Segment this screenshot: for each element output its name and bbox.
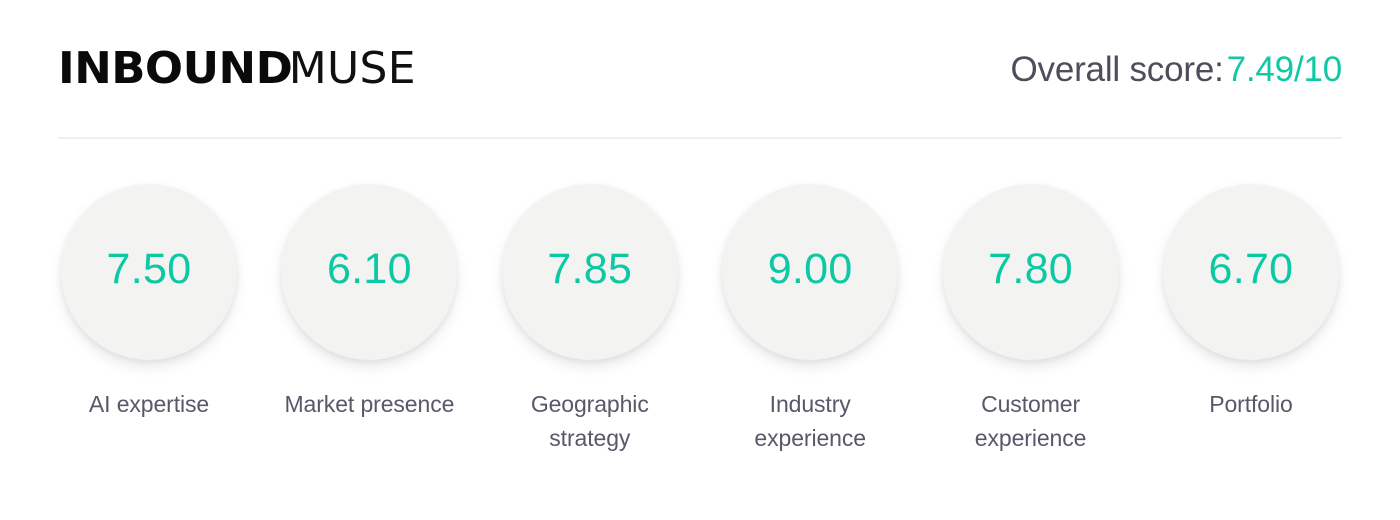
metric-value: 6.10 bbox=[327, 248, 412, 291]
metric-bubble: 7.50 bbox=[61, 184, 237, 360]
metric-item: 7.85 Geographic strategy bbox=[499, 184, 681, 455]
metric-bubble: 6.70 bbox=[1163, 184, 1339, 360]
metric-label: Portfolio bbox=[1209, 387, 1292, 421]
metric-bubble: 7.85 bbox=[502, 184, 678, 360]
brand-logo-bold-text: INBOUND bbox=[58, 47, 292, 91]
brand-logo: INBOUNDMUSE bbox=[58, 47, 416, 91]
metric-item: 7.80 Customer experience bbox=[940, 184, 1122, 455]
metric-value: 9.00 bbox=[768, 248, 853, 291]
scorecard-panel: INBOUNDMUSE Overall score:7.49/10 7.50 A… bbox=[0, 0, 1400, 520]
metric-value: 7.50 bbox=[107, 248, 192, 291]
metric-bubble: 9.00 bbox=[722, 184, 898, 360]
header-divider bbox=[58, 137, 1342, 139]
metric-item: 6.10 Market presence bbox=[278, 184, 460, 455]
metric-value: 7.85 bbox=[547, 248, 632, 291]
overall-score-label: Overall score: bbox=[1011, 50, 1224, 89]
metric-bubble: 6.10 bbox=[281, 184, 457, 360]
metric-label: Industry experience bbox=[722, 387, 898, 455]
overall-score: Overall score:7.49/10 bbox=[1011, 52, 1342, 87]
metric-label: Market presence bbox=[284, 387, 454, 421]
metric-item: 6.70 Portfolio bbox=[1160, 184, 1342, 455]
metric-value: 6.70 bbox=[1209, 248, 1294, 291]
overall-score-value: 7.49/10 bbox=[1227, 50, 1342, 89]
metric-label: Geographic strategy bbox=[502, 387, 678, 455]
brand-logo-light-text: MUSE bbox=[289, 47, 416, 91]
metric-value: 7.80 bbox=[988, 248, 1073, 291]
metric-label: AI expertise bbox=[89, 387, 209, 421]
metric-item: 9.00 Industry experience bbox=[719, 184, 901, 455]
metric-bubble: 7.80 bbox=[943, 184, 1119, 360]
metric-bubbles-row: 7.50 AI expertise 6.10 Market presence 7… bbox=[58, 184, 1342, 455]
metric-label: Customer experience bbox=[943, 387, 1119, 455]
metric-item: 7.50 AI expertise bbox=[58, 184, 240, 455]
header: INBOUNDMUSE Overall score:7.49/10 bbox=[58, 38, 1342, 100]
